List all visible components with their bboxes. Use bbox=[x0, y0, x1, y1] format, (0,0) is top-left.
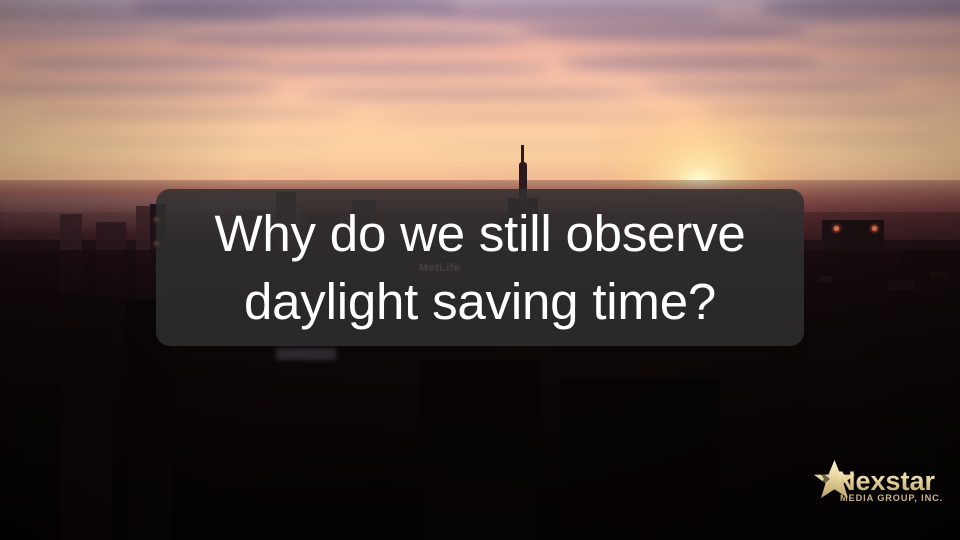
aviation-light bbox=[872, 226, 877, 231]
window-light bbox=[276, 348, 336, 360]
logo-tagline: MEDIA GROUP, INC. bbox=[840, 493, 943, 503]
building bbox=[560, 380, 720, 540]
caption-line-2: daylight saving time? bbox=[244, 269, 716, 335]
caption-line-1: Why do we still observe bbox=[214, 201, 745, 267]
aviation-light bbox=[834, 226, 839, 231]
building bbox=[420, 360, 540, 540]
building bbox=[60, 330, 112, 540]
nexstar-logo: Nexstar MEDIA GROUP, INC. bbox=[806, 459, 948, 507]
empire-state-building-mast bbox=[521, 145, 524, 167]
caption-container: Why do we still observe daylight saving … bbox=[156, 189, 804, 346]
logo-wordmark: Nexstar bbox=[836, 466, 936, 496]
video-player-frame: MetLife Why do we still observe daylight… bbox=[0, 0, 960, 540]
